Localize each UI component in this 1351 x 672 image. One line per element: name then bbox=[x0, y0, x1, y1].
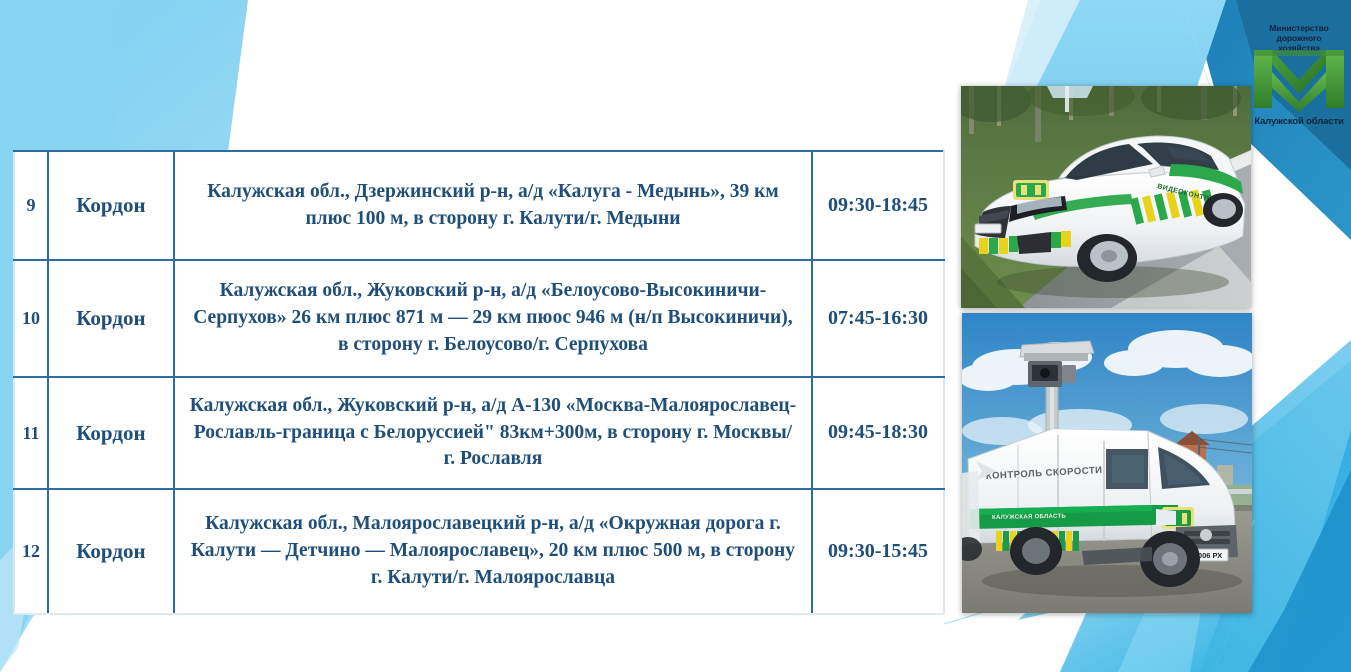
table-row: 11 Кордон Калужская обл., Жуковский р-н,… bbox=[14, 377, 944, 489]
logo-subtitle: Калужской области bbox=[1248, 116, 1350, 127]
row-number: 9 bbox=[14, 151, 48, 260]
location-text: Калужская обл., Дзержинский р-н, а/д «Ка… bbox=[174, 151, 812, 260]
logo-title-line-1: Министерство bbox=[1248, 23, 1350, 33]
complex-type: Кордон bbox=[48, 260, 174, 377]
ministry-logo: Министерство дорожного хозяйства bbox=[1248, 17, 1350, 129]
table-row: 9 Кордон Калужская обл., Дзержинский р-н… bbox=[14, 151, 944, 260]
location-text: Калужская обл., Малоярославецкий р-н, а/… bbox=[174, 489, 812, 614]
speed-control-locations-table: 9 Кордон Калужская обл., Дзержинский р-н… bbox=[13, 150, 945, 615]
operating-hours: 09:30-18:45 bbox=[812, 151, 944, 260]
row-number: 10 bbox=[14, 260, 48, 377]
row-number: 11 bbox=[14, 377, 48, 489]
logo-title-line-2: дорожного bbox=[1248, 33, 1350, 43]
operating-hours: 09:45-18:30 bbox=[812, 377, 944, 489]
slide-canvas: 9 Кордон Калужская обл., Дзержинский р-н… bbox=[0, 0, 1351, 672]
photo-patrol-car: ВИДЕОКОНТРОЛЬ bbox=[961, 86, 1251, 308]
complex-type: Кордон bbox=[48, 377, 174, 489]
ministry-emblem-icon bbox=[1254, 50, 1344, 112]
location-text: Калужская обл., Жуковский р-н, а/д А-130… bbox=[174, 377, 812, 489]
operating-hours: 07:45-16:30 bbox=[812, 260, 944, 377]
table-row: 10 Кордон Калужская обл., Жуковский р-н,… bbox=[14, 260, 944, 377]
row-number: 12 bbox=[14, 489, 48, 614]
complex-type: Кордон bbox=[48, 489, 174, 614]
photo-speed-control-van: КОНТРОЛЬ СКОРОСТИ КАЛУЖСКАЯ ОБЛАСТЬ bbox=[962, 313, 1252, 613]
operating-hours: 09:30-15:45 bbox=[812, 489, 944, 614]
logo-title: Министерство дорожного хозяйства bbox=[1248, 23, 1350, 53]
complex-type: Кордон bbox=[48, 151, 174, 260]
table-row: 12 Кордон Калужская обл., Малоярославецк… bbox=[14, 489, 944, 614]
location-text: Калужская обл., Жуковский р-н, а/д «Бело… bbox=[174, 260, 812, 377]
